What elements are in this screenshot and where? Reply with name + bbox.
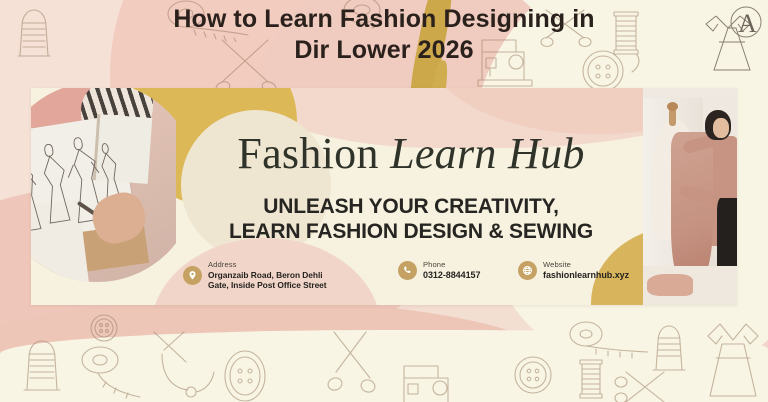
contact-address[interactable]: Address Organzaib Road, Beron Dehli Gate… — [183, 261, 398, 291]
button-icon — [512, 354, 554, 396]
brand-word-fashion: Fashion — [237, 129, 378, 178]
contact-website-value: fashionlearnhub.xyz — [543, 270, 629, 280]
page-title: How to Learn Fashion Designing in Dir Lo… — [0, 4, 768, 66]
page-title-line-2: Dir Lower 2026 — [0, 35, 768, 66]
tagline-line-2: LEARN FASHION DESIGN & SEWING — [171, 219, 651, 244]
tagline-line-1: UNLEASH YOUR CREATIVITY, — [171, 194, 651, 219]
contact-phone-label: Phone — [423, 261, 480, 270]
brand-monogram-icon: A — [700, 2, 764, 72]
brand-word-learnhub: Learn Hub — [390, 129, 585, 178]
dressform-draping-photo — [643, 88, 737, 305]
thimble-icon — [14, 334, 70, 396]
phone-icon — [398, 261, 417, 280]
page-title-line-1: How to Learn Fashion Designing in — [0, 4, 768, 35]
screenshot-stage: How to Learn Fashion Designing in Dir Lo… — [0, 0, 768, 402]
contact-address-line-1: Organzaib Road, Beron Dehli — [208, 270, 327, 281]
button-icon — [88, 312, 120, 344]
banner-tagline: UNLEASH YOUR CREATIVITY, LEARN FASHION D… — [171, 194, 651, 244]
contact-address-line-2: Gate, Inside Post Office Street — [208, 280, 327, 291]
svg-text:A: A — [738, 9, 757, 38]
fashion-learn-hub-banner[interactable]: Fashion Learn Hub UNLEASH YOUR CREATIVIT… — [31, 88, 737, 305]
contact-phone-value: 0312-8844157 — [423, 270, 480, 280]
thread-spool-icon — [574, 356, 608, 402]
scissors-icon — [326, 328, 382, 394]
contact-website-label: Website — [543, 261, 629, 270]
needle-icon — [158, 352, 218, 400]
banner-brand-title: Fashion Learn Hub — [181, 128, 641, 180]
contact-website[interactable]: Website fashionlearnhub.xyz — [518, 261, 653, 280]
dress-icon — [700, 320, 766, 402]
button-icon — [222, 348, 268, 402]
scissors-icon — [612, 368, 672, 402]
sewing-machine-icon — [392, 358, 466, 402]
banner-contact-row: Address Organzaib Road, Beron Dehli Gate… — [183, 261, 653, 291]
map-pin-icon — [183, 266, 202, 285]
contact-phone[interactable]: Phone 0312-8844157 — [398, 261, 518, 280]
contact-address-label: Address — [208, 261, 327, 270]
globe-icon — [518, 261, 537, 280]
fashion-sketch-photo — [31, 88, 176, 305]
measuring-tape-icon — [78, 344, 158, 402]
